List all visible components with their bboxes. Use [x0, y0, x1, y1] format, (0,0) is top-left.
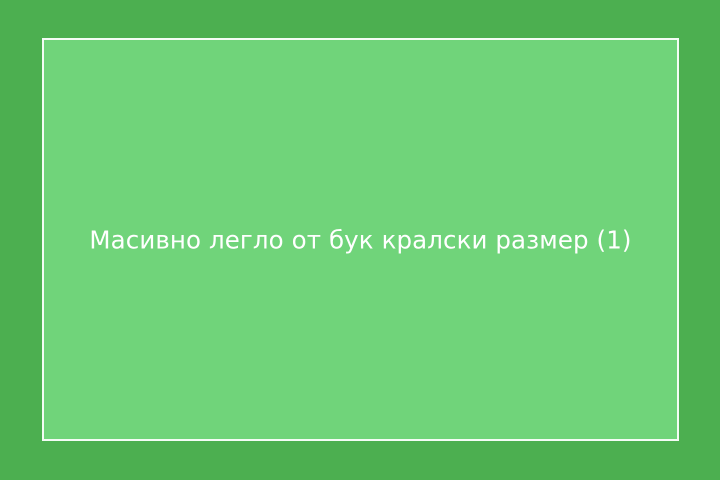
placeholder-caption-text: Масивно легло от бук кралски размер (1): [89, 225, 631, 254]
image-placeholder-panel: Масивно легло от бук кралски размер (1): [42, 38, 679, 441]
caption-container: Масивно легло от бук кралски размер (1): [44, 225, 677, 254]
screen-root: Масивно легло от бук кралски размер (1): [0, 0, 720, 480]
